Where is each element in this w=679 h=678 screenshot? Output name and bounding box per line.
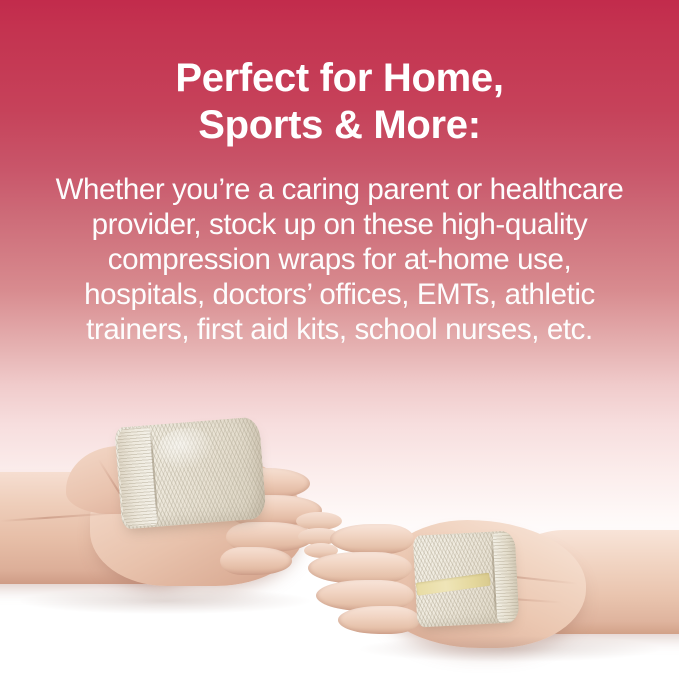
headline-line-1: Perfect for Home, [175, 56, 503, 100]
right-finger-pinky [338, 606, 420, 634]
body-line-3: compression wraps for at-home use, [16, 242, 663, 277]
right-hand-shadow [360, 636, 660, 662]
compression-wrap-small [413, 530, 520, 627]
body-line-4: hospitals, doctors’ offices, EMTs, athle… [16, 277, 663, 312]
product-photo-layer [0, 400, 679, 678]
headline-line-2: Sports & More: [198, 103, 480, 147]
marketing-copy-block: Perfect for Home, Sports & More: Whether… [0, 55, 679, 347]
product-marketing-banner: Perfect for Home, Sports & More: Whether… [0, 0, 679, 678]
right-finger-index [330, 524, 414, 554]
left-finger-pinky [220, 547, 292, 575]
left-hand-shadow [20, 588, 310, 614]
body-line-5: trainers, first aid kits, school nurses,… [16, 312, 663, 347]
body-line-2: provider, stock up on these high-quality [16, 207, 663, 242]
headline: Perfect for Home, Sports & More: [0, 55, 679, 149]
body-copy: Whether you’re a caring parent or health… [0, 149, 679, 347]
body-line-1: Whether you’re a caring parent or health… [16, 172, 663, 207]
compression-wrap-large [114, 416, 267, 529]
